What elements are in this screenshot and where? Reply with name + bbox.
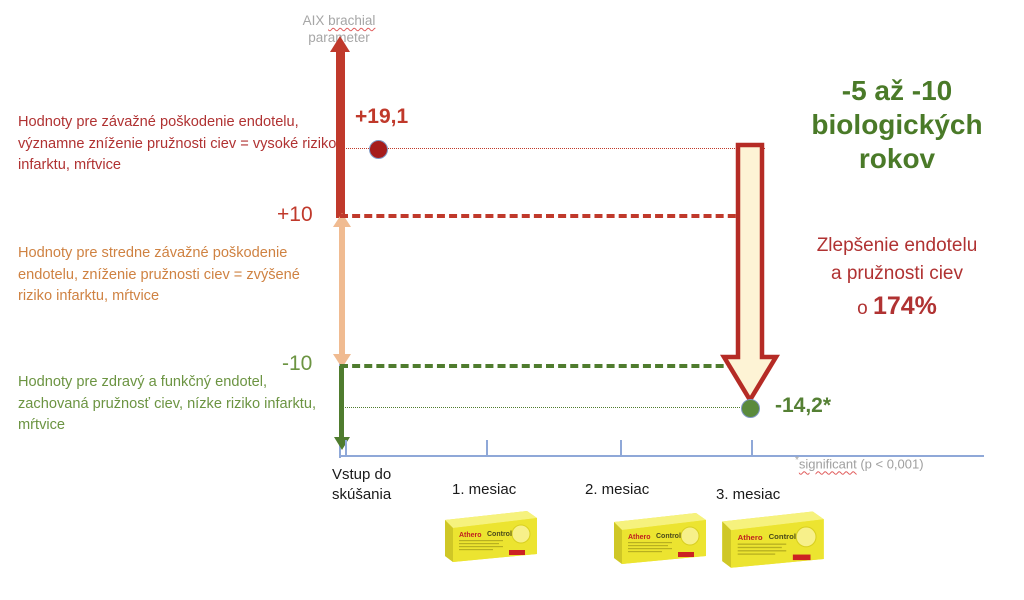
y-axis-tick-plus-10: +10 [277,203,313,227]
svg-text:Control: Control [769,532,796,541]
x-axis-tick-month-2 [620,440,622,456]
x-axis-label-month-2: 2. mesiac [585,480,685,500]
x-axis-label-baseline-line1: Vstup do [332,465,442,485]
datapoint-month-3[interactable] [741,399,760,418]
moderate-zone-arrow-shaft [339,226,345,356]
svg-text:Athero: Athero [459,532,482,539]
zone-description-severe: Hodnoty pre závažné poškodenie endotelu,… [18,112,338,177]
severe-zone-arrow-head-icon [330,36,350,52]
x-axis-label-baseline: Vstup do skúšania [332,465,442,505]
x-axis-tick-month-3 [751,440,753,456]
svg-text:Control: Control [487,531,512,538]
zone-description-moderate: Hodnoty pre stredne závažné poškodenie e… [18,243,330,308]
svg-text:Athero: Athero [738,533,763,542]
healthy-zone-arrow-head-icon [334,437,350,450]
footnote-significant-word: significant [799,456,857,471]
improvement-percent-line: o 174% [770,292,1024,323]
y-axis-title-line1-misspelled-word: brachial [328,13,375,28]
datapoint-baseline[interactable] [369,140,388,159]
footnote-p-value: (p < 0,001) [857,456,924,471]
improvement-callout: Zlepšenie endotelu a pružnosti ciev o 17… [770,232,1024,323]
reference-line-minus-10 [340,364,760,368]
product-box-month-2: Athero Control [612,508,708,566]
reference-line-plus-19-1 [340,148,765,149]
headline-biological-years: -5 až -10 biologických rokov [774,74,1020,176]
severe-zone-arrow-shaft [336,48,345,218]
svg-text:Control: Control [656,533,681,540]
zone-description-healthy: Hodnoty pre zdravý a funkčný endotel, za… [18,372,318,437]
x-axis-tick-baseline [345,440,347,456]
improvement-percent-value: 174% [873,292,937,320]
reference-line-minus-14-2 [340,407,740,408]
x-axis-label-baseline-line2: skúšania [332,485,442,505]
x-axis-label-month-1: 1. mesiac [452,480,552,500]
reference-line-plus-10 [340,214,760,218]
svg-text:Athero: Athero [628,534,651,541]
x-axis-label-month-3: 3. mesiac [716,485,816,505]
headline-years-line3: rokov [774,142,1020,176]
improvement-line2: a pružnosti ciev [770,260,1024,288]
headline-years-line1: -5 až -10 [774,74,1020,108]
product-box-month-3: Athero Control [718,506,828,570]
healthy-zone-arrow-shaft [339,366,344,439]
x-axis-tick-month-1 [486,440,488,456]
y-axis-title-line1-prefix: AIX [303,13,329,28]
significance-footnote: *significant (p < 0,001) [795,455,924,471]
headline-years-line2: biologických [774,108,1020,142]
datapoint-month-3-label: -14,2* [775,394,831,418]
product-box-month-1: Athero Control [443,506,539,564]
improvement-prefix: o [857,298,873,319]
datapoint-baseline-label: +19,1 [355,105,408,129]
improvement-line1: Zlepšenie endotelu [770,232,1024,260]
y-axis-tick-minus-10: -10 [282,352,312,376]
